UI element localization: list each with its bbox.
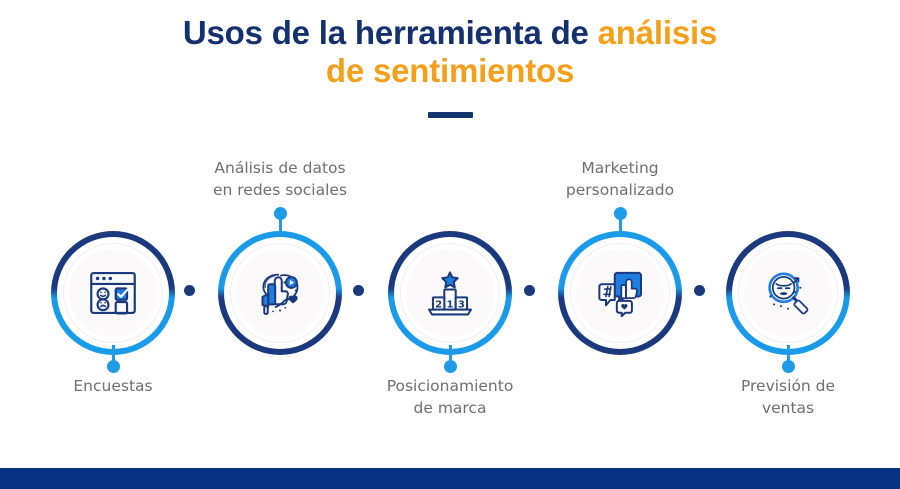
node-label-line-1: Análisis de datos (175, 157, 385, 179)
node-label-line-2: personalizado (515, 179, 725, 201)
node-ring (558, 231, 682, 355)
node-stem-dot (444, 360, 457, 373)
node-label-prevision: Previsión de ventas (683, 375, 893, 419)
speech-bubbles-icon (588, 261, 652, 325)
node-label-line-2: ventas (683, 397, 893, 419)
survey-window-icon (81, 261, 145, 325)
node-ring (218, 231, 342, 355)
node-label-line-1: Posicionamiento (345, 375, 555, 397)
magnifier-forecast-icon (756, 261, 820, 325)
node-label-line-2: de marca (345, 397, 555, 419)
node-stem-dot (107, 360, 120, 373)
node-ring (51, 231, 175, 355)
node-stem-dot (782, 360, 795, 373)
node-label-line-1: Marketing (515, 157, 725, 179)
timeline-node-marketing[interactable]: Marketing personalizado (540, 0, 700, 489)
node-label-line-1: Encuestas (8, 375, 218, 397)
timeline-node-posicionamiento[interactable]: 2 1 3 Posicionamiento de marca (370, 0, 530, 489)
podium-ranking-icon: 2 1 3 (418, 261, 482, 325)
timeline: Encuestas (0, 0, 900, 489)
timeline-node-encuestas[interactable]: Encuestas (33, 0, 193, 489)
node-label-posicionamiento: Posicionamiento de marca (345, 375, 555, 419)
node-stem-dot (614, 207, 627, 220)
node-label-line-2: en redes sociales (175, 179, 385, 201)
node-label-analisis-redes: Análisis de datos en redes sociales (175, 157, 385, 201)
node-label-line-1: Previsión de (683, 375, 893, 397)
infographic-canvas: Usos de la herramienta de análisis de se… (0, 0, 900, 489)
timeline-node-analisis-redes[interactable]: Análisis de datos en redes sociales (200, 0, 360, 489)
node-ring: 2 1 3 (388, 231, 512, 355)
node-ring (726, 231, 850, 355)
node-label-marketing: Marketing personalizado (515, 157, 725, 201)
node-label-encuestas: Encuestas (8, 375, 218, 397)
timeline-node-prevision[interactable]: Previsión de ventas (708, 0, 868, 489)
megaphone-social-icon (248, 261, 312, 325)
bottom-accent-bar (0, 468, 900, 489)
node-stem-dot (274, 207, 287, 220)
